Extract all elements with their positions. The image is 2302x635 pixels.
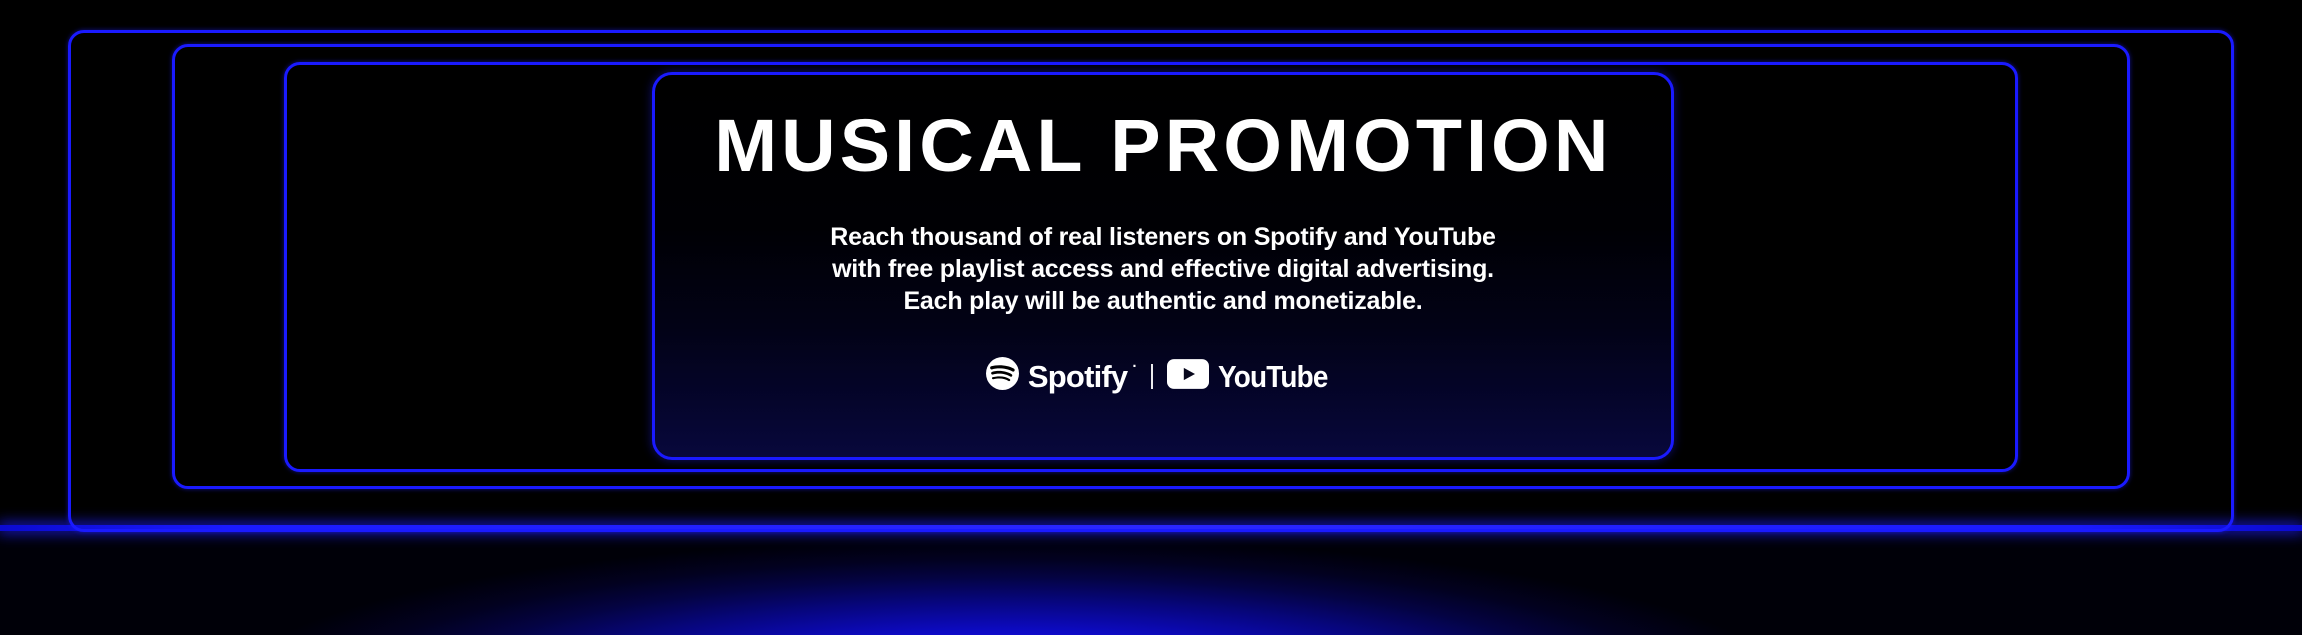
- subheadline: Reach thousand of real listeners on Spot…: [830, 221, 1495, 317]
- subheadline-line-3: Each play will be authentic and monetiza…: [830, 285, 1495, 317]
- floor-glow: [0, 520, 2302, 635]
- spotify-wordmark: Spotify: [1028, 361, 1127, 392]
- logo-separator: [1151, 364, 1153, 389]
- subheadline-line-2: with free playlist access and effective …: [830, 253, 1495, 285]
- spotify-trademark-mark: ·: [1132, 359, 1137, 374]
- platform-logos: Spotify · YouTube: [986, 357, 1340, 395]
- youtube-logo: YouTube: [1167, 359, 1340, 394]
- promo-banner: MUSICAL PROMOTION Reach thousand of real…: [0, 0, 2302, 635]
- spotify-logo-icon: [986, 357, 1019, 395]
- content-card: MUSICAL PROMOTION Reach thousand of real…: [652, 72, 1674, 460]
- youtube-wordmark: YouTube: [1218, 361, 1328, 392]
- youtube-play-icon: [1167, 359, 1209, 394]
- page-title: MUSICAL PROMOTION: [714, 109, 1612, 183]
- subheadline-line-1: Reach thousand of real listeners on Spot…: [830, 221, 1495, 253]
- spotify-logo: Spotify ·: [986, 357, 1137, 395]
